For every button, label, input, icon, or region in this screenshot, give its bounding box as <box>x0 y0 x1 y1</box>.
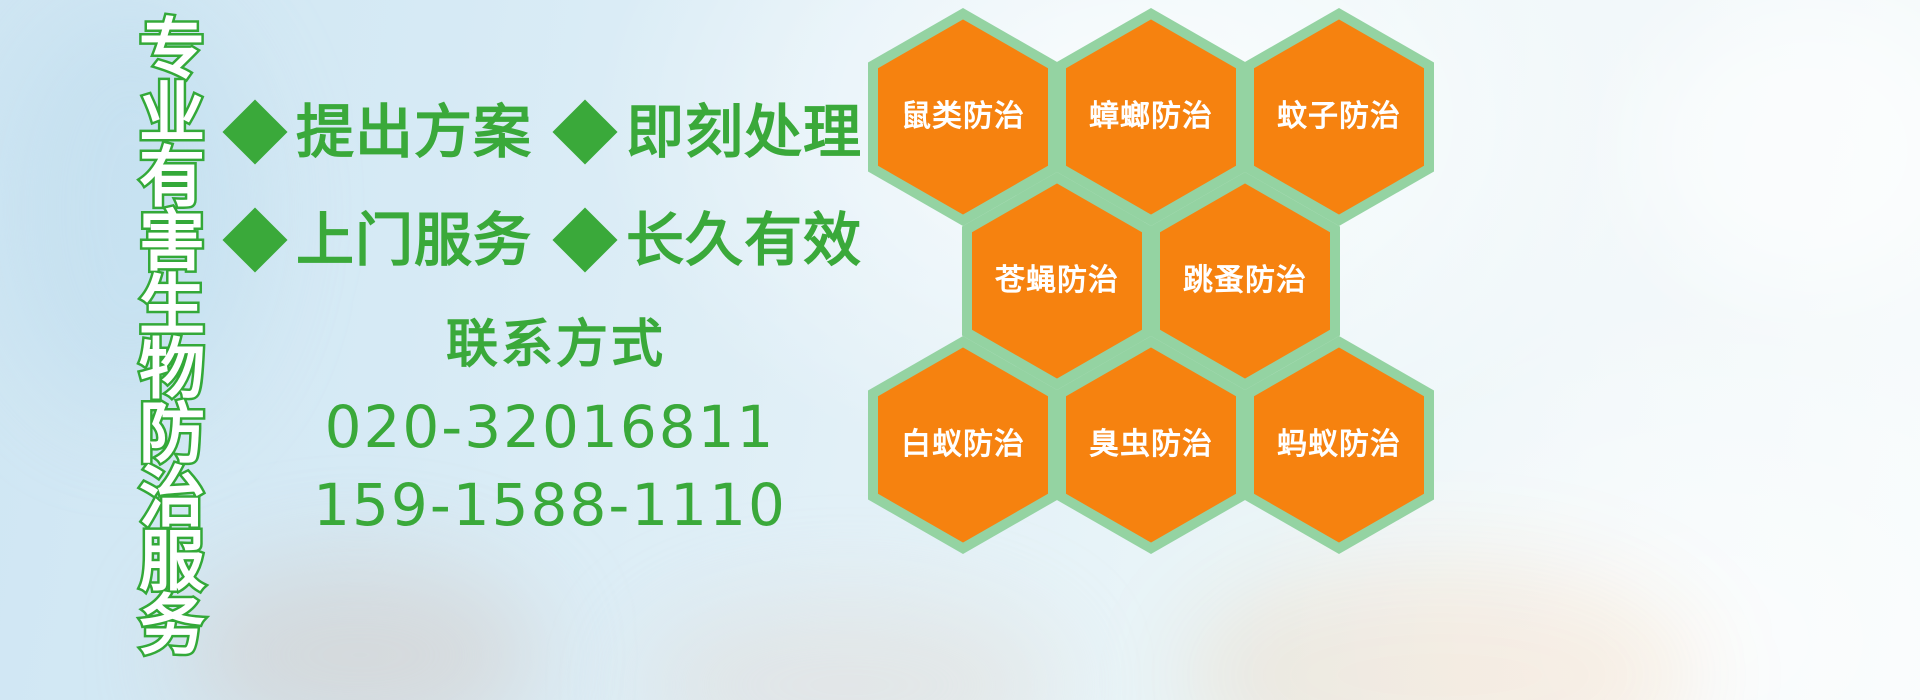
vertical-headline: 专业有害生物防治服务 <box>96 14 200 574</box>
feature-row: 提出方案 即刻处理 <box>232 78 872 186</box>
diamond-bullet-icon <box>552 99 617 164</box>
background-blob-bottom-left <box>180 560 540 700</box>
service-honeycomb: 鼠类防治 蟑螂防治 蚊子防治 苍蝇防治 跳蚤防治 白蚁防治 <box>860 0 1460 700</box>
diamond-bullet-icon <box>552 207 617 272</box>
background-blob-top-right <box>1640 0 1920 300</box>
feature-item-onsite-service: 上门服务 <box>232 211 532 269</box>
hex-cell-bedbug-control[interactable]: 臭虫防治 <box>1056 336 1246 554</box>
hex-label: 蟑螂防治 <box>1056 102 1246 132</box>
feature-label: 即刻处理 <box>626 103 862 161</box>
feature-label: 长久有效 <box>626 211 862 269</box>
hex-label: 跳蚤防治 <box>1150 266 1340 296</box>
feature-item-propose-plan: 提出方案 <box>232 103 532 161</box>
hex-label: 鼠类防治 <box>868 102 1058 132</box>
hex-label: 白蚁防治 <box>868 430 1058 460</box>
phone-number-mobile[interactable]: 159-1588-1110 <box>300 468 800 543</box>
feature-label: 提出方案 <box>296 103 532 161</box>
feature-label: 上门服务 <box>296 211 532 269</box>
hex-label: 苍蝇防治 <box>962 266 1152 296</box>
feature-row: 上门服务 长久有效 <box>232 186 872 294</box>
phone-number-landline[interactable]: 020-32016811 <box>300 390 800 465</box>
contact-heading: 联系方式 <box>312 316 800 374</box>
diamond-bullet-icon <box>222 207 287 272</box>
hex-label: 臭虫防治 <box>1056 430 1246 460</box>
contact-block: 联系方式 020-32016811 159-1588-1110 <box>300 316 800 543</box>
hex-label: 蚂蚁防治 <box>1244 430 1434 460</box>
pest-control-banner: 专业有害生物防治服务 提出方案 即刻处理 上门服务 长久有效 <box>0 0 1920 700</box>
feature-list: 提出方案 即刻处理 上门服务 长久有效 <box>232 78 872 294</box>
hex-cell-ant-control[interactable]: 蚂蚁防治 <box>1244 336 1434 554</box>
hex-cell-termite-control[interactable]: 白蚁防治 <box>868 336 1058 554</box>
feature-item-long-lasting: 长久有效 <box>562 211 862 269</box>
hex-label: 蚊子防治 <box>1244 102 1434 132</box>
diamond-bullet-icon <box>222 99 287 164</box>
feature-item-immediate-handling: 即刻处理 <box>562 103 862 161</box>
